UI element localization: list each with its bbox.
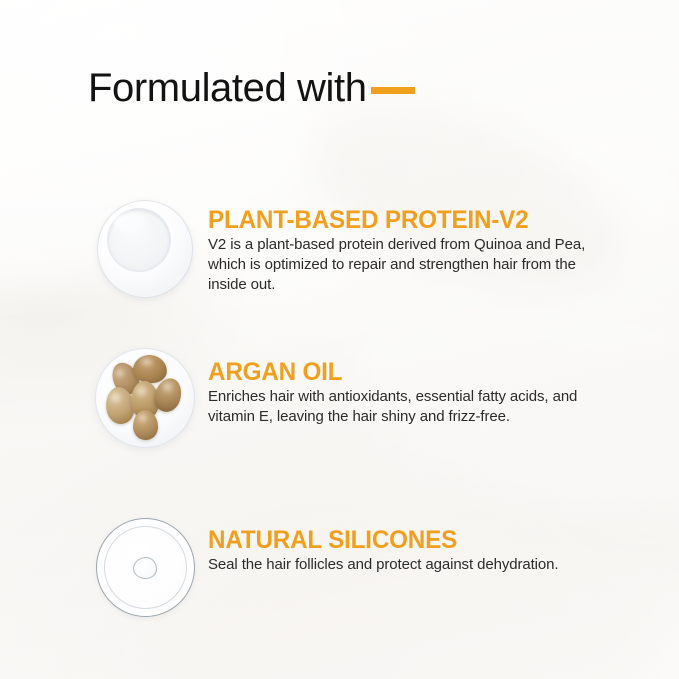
ingredient-title: ARGAN OIL xyxy=(208,358,586,386)
dish-gloss-highlight xyxy=(113,213,147,233)
ingredient-description: Enriches hair with antioxidants, essenti… xyxy=(208,387,598,427)
ingredient-text: PLANT-BASED PROTEIN-V2 V2 is a plant-bas… xyxy=(208,198,598,295)
dish-body xyxy=(97,200,193,298)
ingredient-text: NATURAL SILICONES Seal the hair follicle… xyxy=(208,516,598,575)
dish-body xyxy=(95,348,195,448)
ingredient-title: NATURAL SILICONES xyxy=(208,526,586,554)
glass-dish-argan-nuts-icon xyxy=(95,346,195,450)
page-title: Formulated with xyxy=(88,68,367,108)
glass-dish-droplet-icon xyxy=(95,516,195,620)
glass-dish-empty-icon xyxy=(95,198,195,302)
ingredient-description: Seal the hair follicles and protect agai… xyxy=(208,555,598,575)
silicone-droplet xyxy=(133,557,157,579)
ingredient-row: PLANT-BASED PROTEIN-V2 V2 is a plant-bas… xyxy=(0,198,679,302)
ingredient-row: ARGAN OIL Enriches hair with antioxidant… xyxy=(0,346,679,450)
ingredient-title: PLANT-BASED PROTEIN-V2 xyxy=(208,206,586,234)
infographic-page: Formulated with PLANT-BASED PROTEIN-V2 V… xyxy=(0,0,679,679)
title-dash-accent xyxy=(371,87,415,94)
dish-body xyxy=(96,518,195,617)
ingredient-description: V2 is a plant-based protein derived from… xyxy=(208,235,598,295)
ingredient-text: ARGAN OIL Enriches hair with antioxidant… xyxy=(208,346,598,427)
page-header: Formulated with xyxy=(88,68,415,108)
ingredient-row: NATURAL SILICONES Seal the hair follicle… xyxy=(0,516,679,620)
